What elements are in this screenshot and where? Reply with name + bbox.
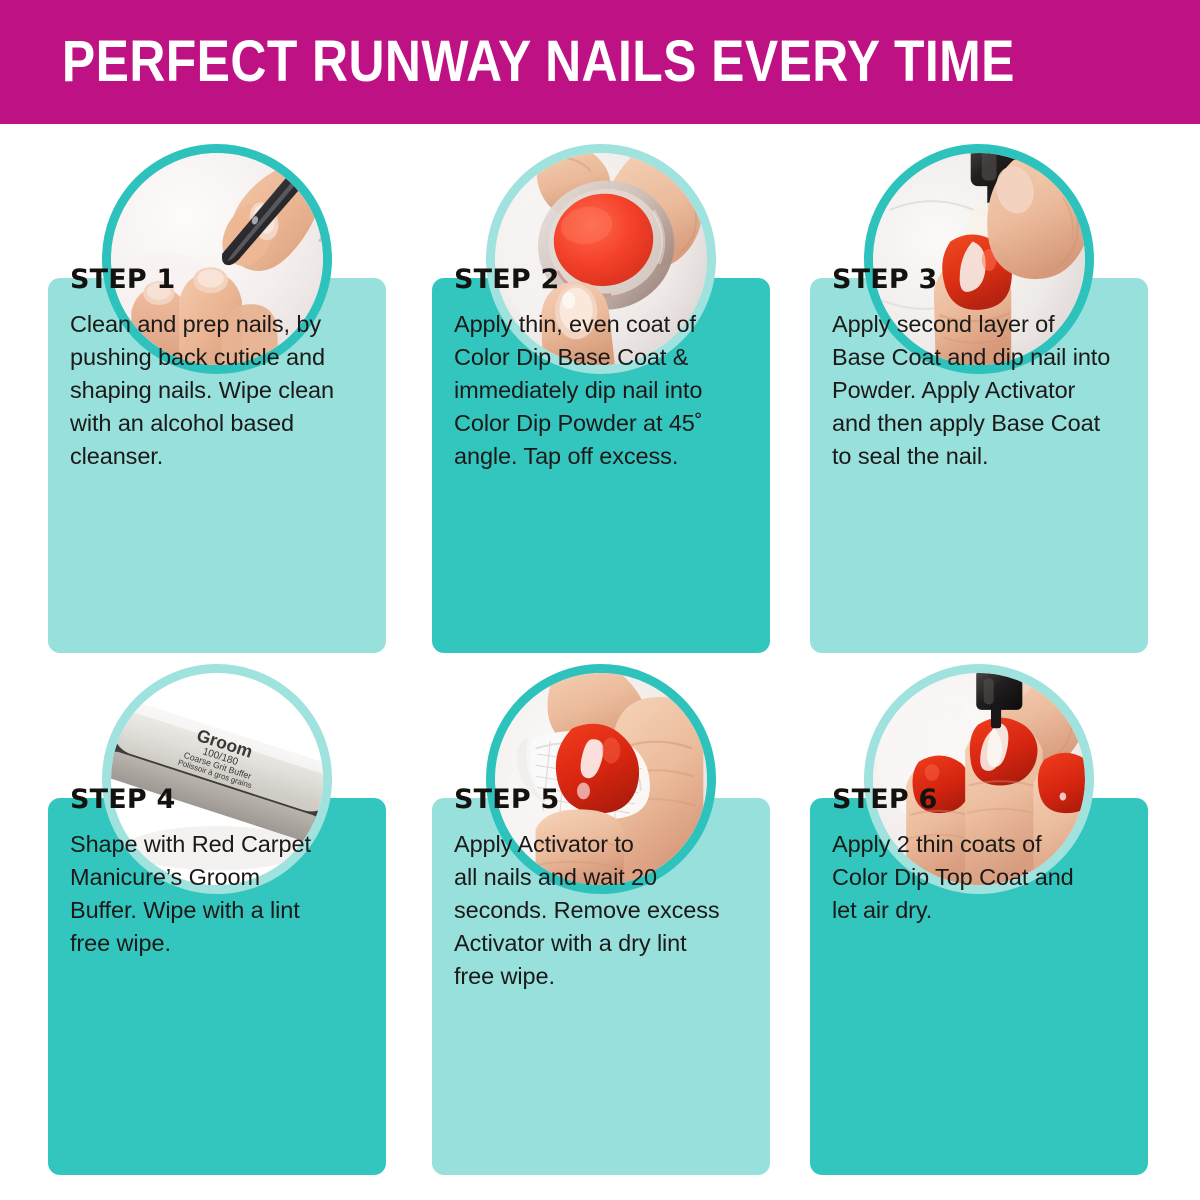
step-title: STEP 2 <box>454 264 754 295</box>
step-title: STEP 6 <box>832 784 1132 815</box>
step-body: Clean and prep nails, by pushing back cu… <box>70 308 370 473</box>
step-title: STEP 3 <box>832 264 1132 295</box>
step-text-block: STEP 3 Apply second layer of Base Coat a… <box>832 264 1132 473</box>
step-title: STEP 4 <box>70 784 370 815</box>
page-title: PERFECT RUNWAY NAILS EVERY TIME <box>0 33 1015 91</box>
step-body: Apply 2 thin coats of Color Dip Top Coat… <box>832 828 1132 927</box>
step-body: Apply second layer of Base Coat and dip … <box>832 308 1132 473</box>
step-body: Apply Activator to all nails and wait 20… <box>454 828 754 993</box>
step-text-block: STEP 6 Apply 2 thin coats of Color Dip T… <box>832 784 1132 927</box>
step-body: Apply thin, even coat of Color Dip Base … <box>454 308 754 473</box>
header-banner: PERFECT RUNWAY NAILS EVERY TIME <box>0 0 1200 124</box>
step-title: STEP 1 <box>70 264 370 295</box>
step-text-block: STEP 1 Clean and prep nails, by pushing … <box>70 264 370 473</box>
step-body: Shape with Red Carpet Manicure’s Groom B… <box>70 828 370 960</box>
step-text-block: STEP 2 Apply thin, even coat of Color Di… <box>454 264 754 473</box>
steps-grid: STEP 1 Clean and prep nails, by pushing … <box>0 124 1200 1200</box>
step-title: STEP 5 <box>454 784 754 815</box>
step-text-block: STEP 4 Shape with Red Carpet Manicure’s … <box>70 784 370 960</box>
step-text-block: STEP 5 Apply Activator to all nails and … <box>454 784 754 993</box>
